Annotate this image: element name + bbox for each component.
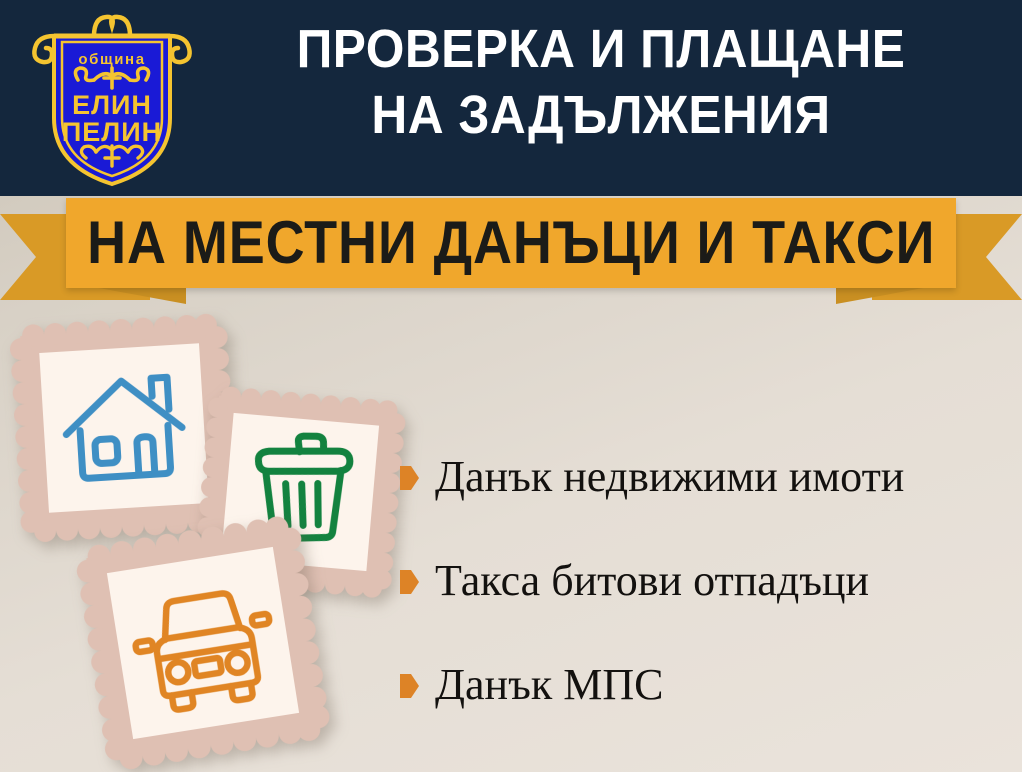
arrow-bullet-icon <box>400 466 419 490</box>
arrow-bullet-icon <box>400 570 419 594</box>
ribbon-label: НА МЕСТНИ ДАНЪЦИ И ТАКСИ <box>87 212 935 274</box>
list-item-label: Данък недвижими имоти <box>435 453 904 501</box>
logo-text-obshtina: община <box>78 51 145 68</box>
arrow-bullet-icon <box>400 674 419 698</box>
stamp-card-vehicle-tax <box>71 511 334 772</box>
list-item[interactable]: Данък МПС <box>400 633 1010 737</box>
tax-types-list: Данък недвижими имоти Такса битови отпад… <box>400 425 1010 737</box>
page-title-line-2: НА ЗАДЪЛЖЕНИЯ <box>228 82 973 148</box>
stamp-car <box>71 511 334 772</box>
municipality-logo: община ЕЛИН ПЕЛИН <box>22 8 202 190</box>
list-item[interactable]: Такса битови отпадъци <box>400 529 1010 633</box>
poster-header: община ЕЛИН ПЕЛИН <box>0 0 1022 196</box>
page-title-line-1: ПРОВЕРКА И ПЛАЩАНЕ <box>228 16 973 82</box>
poster-root: община ЕЛИН ПЕЛИН <box>0 0 1022 772</box>
elin-pelin-coat-of-arms-icon: община ЕЛИН ПЕЛИН <box>22 8 202 190</box>
ribbon-main-panel: НА МЕСТНИ ДАНЪЦИ И ТАКСИ <box>66 198 956 288</box>
header-title-block: ПРОВЕРКА И ПЛАЩАНЕ НА ЗАДЪЛЖЕНИЯ <box>196 16 1006 148</box>
list-item[interactable]: Данък недвижими имоти <box>400 425 1010 529</box>
logo-text-pelin: ПЕЛИН <box>62 117 162 147</box>
logo-text-elin: ЕЛИН <box>72 90 152 120</box>
list-item-label: Данък МПС <box>435 661 663 709</box>
subtitle-ribbon: НА МЕСТНИ ДАНЪЦИ И ТАКСИ <box>0 196 1022 312</box>
list-item-label: Такса битови отпадъци <box>435 557 869 605</box>
